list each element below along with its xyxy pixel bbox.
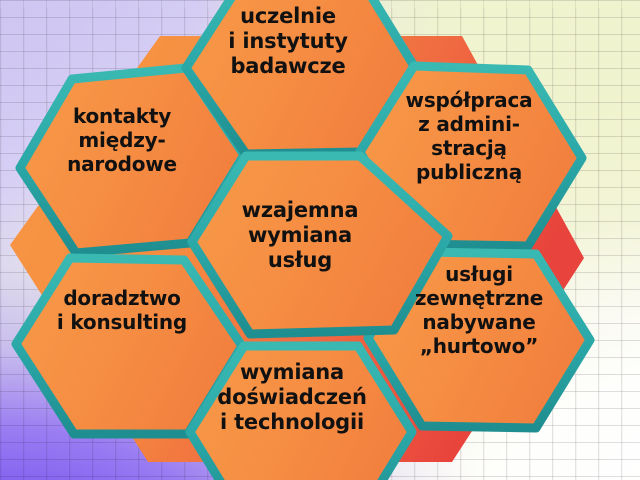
- hexagon-diagram-svg: [0, 0, 640, 480]
- diagram-canvas: uczelnie i instytuty badawcze kontakty m…: [0, 0, 640, 480]
